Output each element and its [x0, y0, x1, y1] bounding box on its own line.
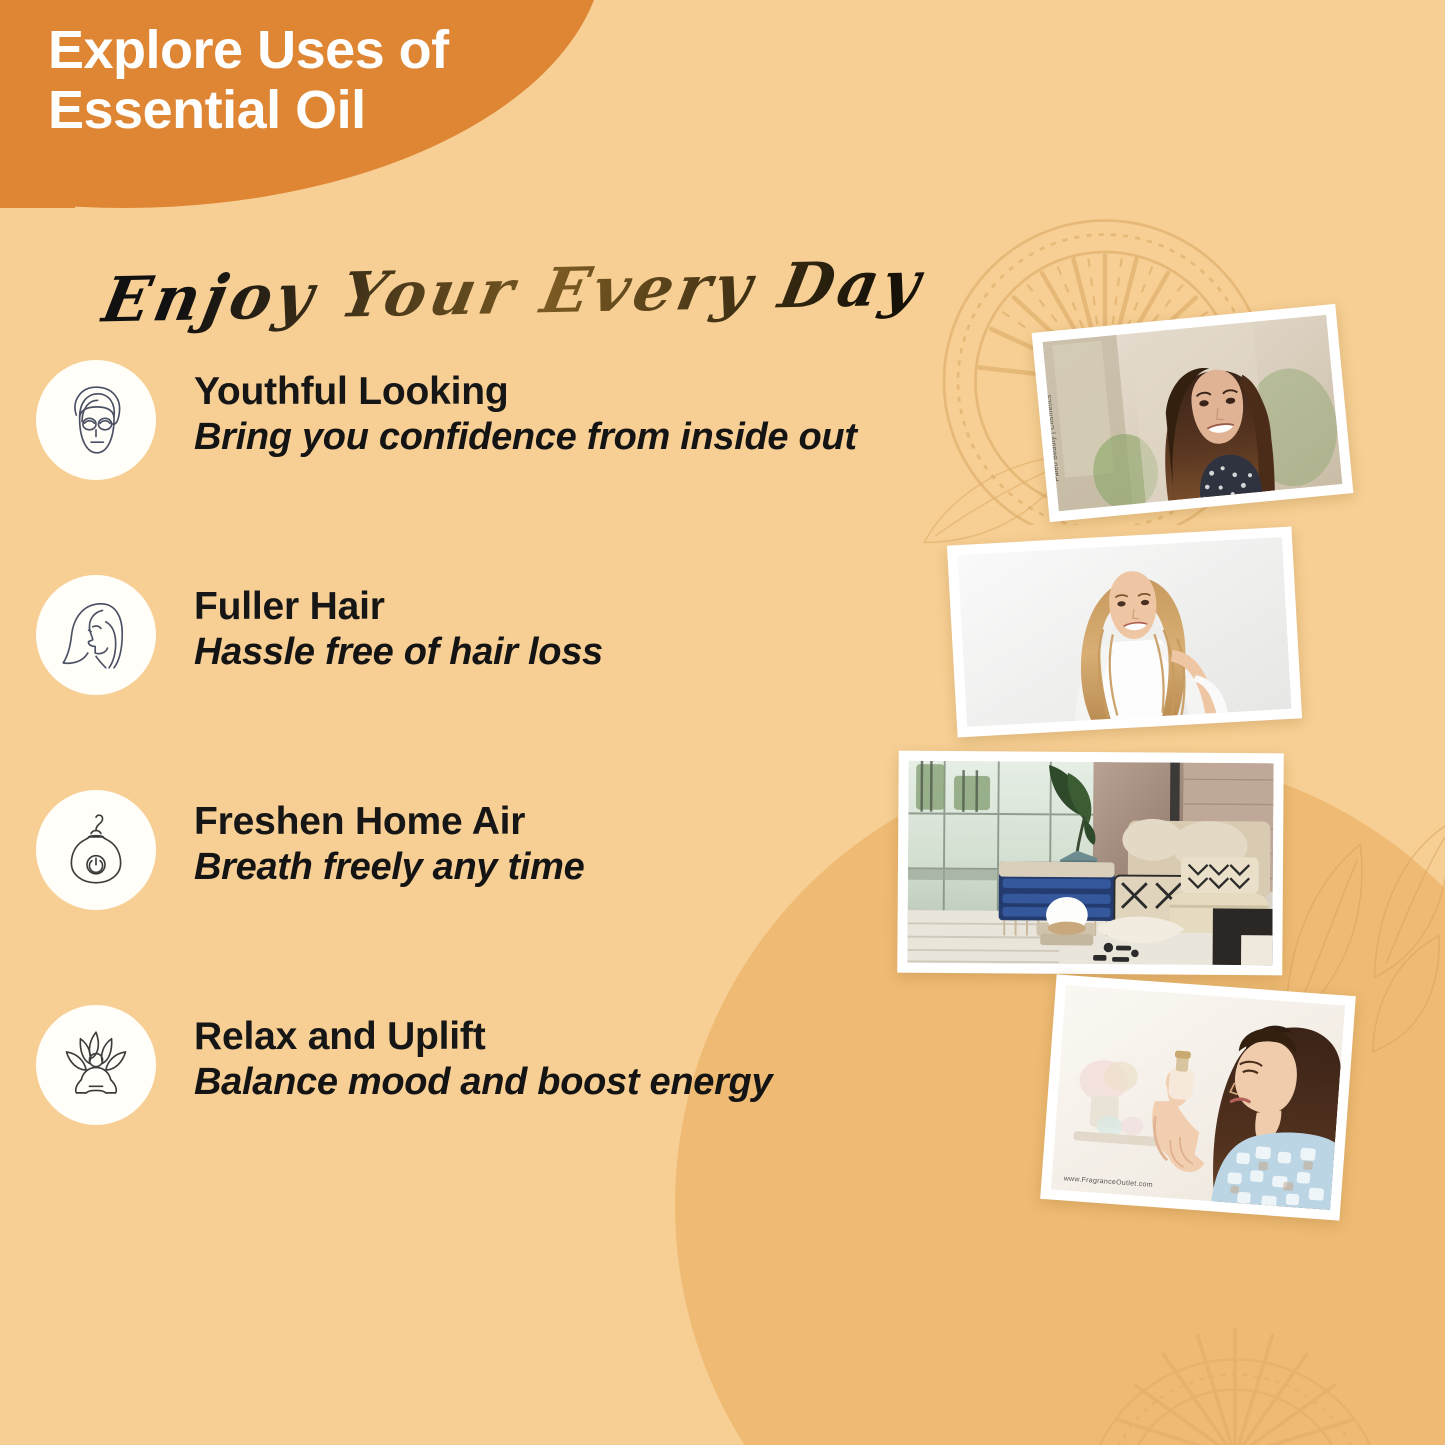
feature-title: Relax and Uplift [194, 1015, 772, 1059]
photo-image [907, 761, 1273, 966]
photo-home-interior [897, 751, 1284, 976]
feature-subtitle: Bring you confidence from inside out [194, 416, 857, 460]
tagline: Enjoy Your Every Day [96, 246, 930, 336]
face-mask-icon [36, 360, 156, 480]
photo-youthful-looking: Paleo Beauty | Cosmetics [1032, 304, 1354, 522]
photo-image: Paleo Beauty | Cosmetics [1043, 315, 1343, 512]
feature-row-relax-and-uplift: Relax and Uplift Balance mood and boost … [0, 1005, 1040, 1125]
feature-text-fuller-hair: Fuller Hair Hassle free of hair loss [194, 585, 603, 674]
feature-title: Freshen Home Air [194, 800, 584, 844]
feature-row-youthful-looking: Youthful Looking Bring you confidence fr… [0, 360, 1040, 575]
long-hair-profile-icon [36, 575, 156, 695]
lotus-meditation-icon [36, 1005, 156, 1125]
photo-relax-fragrance: www.FragranceOutlet.com [1040, 974, 1356, 1220]
feature-row-fuller-hair: Fuller Hair Hassle free of hair loss [0, 575, 1040, 790]
photo-image [957, 537, 1291, 727]
feature-subtitle: Balance mood and boost energy [194, 1061, 772, 1105]
feature-text-relax-and-uplift: Relax and Uplift Balance mood and boost … [194, 1015, 772, 1104]
feature-title: Youthful Looking [194, 370, 857, 414]
aroma-diffuser-icon [36, 790, 156, 910]
page-title: Explore Uses of Essential Oil [48, 20, 608, 141]
feature-text-youthful-looking: Youthful Looking Bring you confidence fr… [194, 370, 857, 459]
feature-title: Fuller Hair [194, 585, 603, 629]
photo-fuller-hair [947, 527, 1302, 738]
citrus-slice-bottom-watermark-icon [1070, 1180, 1400, 1445]
feature-list: Youthful Looking Bring you confidence fr… [0, 360, 1040, 1125]
poster-canvas: Explore Uses of Essential Oil Enjoy Your… [0, 0, 1445, 1445]
feature-row-freshen-home-air: Freshen Home Air Breath freely any time [0, 790, 1040, 1005]
feature-text-freshen-home-air: Freshen Home Air Breath freely any time [194, 800, 584, 889]
feature-subtitle: Hassle free of hair loss [194, 631, 603, 675]
photo-image: www.FragranceOutlet.com [1051, 985, 1345, 1210]
feature-subtitle: Breath freely any time [194, 846, 584, 890]
